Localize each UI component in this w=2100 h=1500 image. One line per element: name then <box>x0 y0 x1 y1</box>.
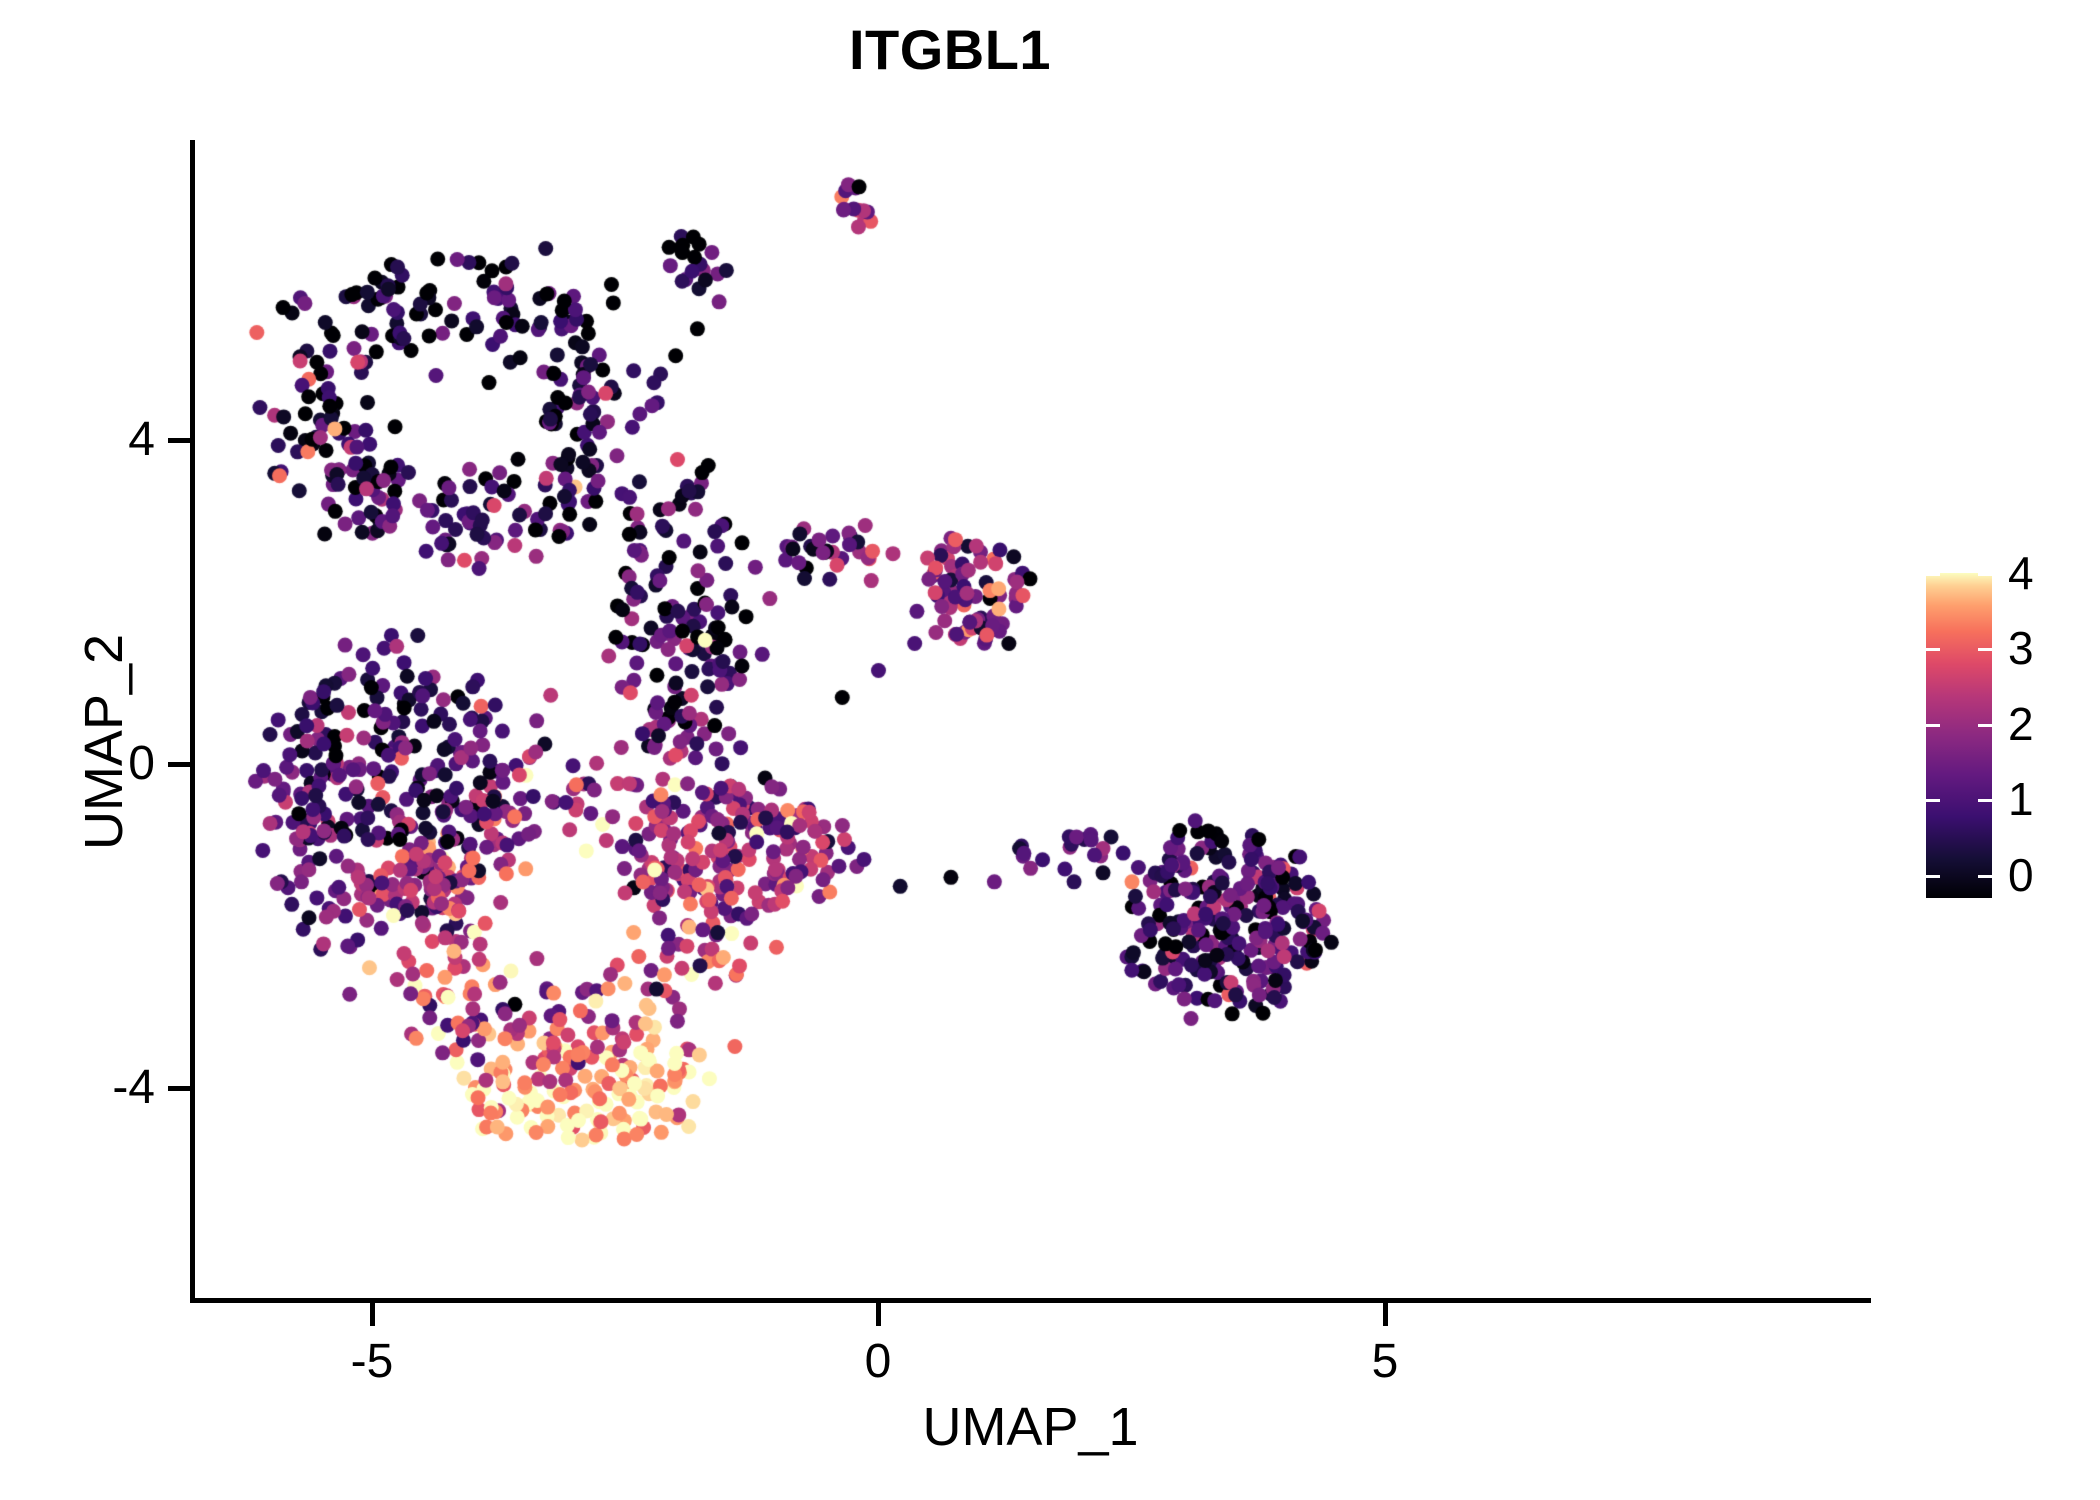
y-tick-mark-0 <box>168 762 192 767</box>
y-tick-mark-4 <box>168 438 192 443</box>
colorbar-tick-right-3 <box>1978 648 1992 651</box>
y-tick-mark-neg4 <box>168 1086 192 1091</box>
colorbar-tick-left-3 <box>1926 648 1940 651</box>
colorbar-gradient <box>1926 573 1992 898</box>
colorbar-tick-left-0 <box>1926 875 1940 878</box>
colorbar-label-0: 0 <box>2008 852 2034 898</box>
colorbar-label-3: 3 <box>2008 625 2034 671</box>
x-axis-line <box>190 1298 1871 1303</box>
colorbar-legend: 4 3 2 1 0 <box>1900 560 2090 920</box>
scatter-plot-panel <box>194 140 1400 1300</box>
x-tick-label-neg5: -5 <box>351 1338 394 1386</box>
colorbar-label-1: 1 <box>2008 776 2034 822</box>
scatter-points-layer <box>194 140 1400 1300</box>
colorbar-label-2: 2 <box>2008 701 2034 747</box>
page-title: ITGBL1 <box>0 22 1900 78</box>
colorbar-tick-left-2 <box>1926 724 1940 727</box>
colorbar-tick-left-4 <box>1926 573 1940 576</box>
x-tick-label-0: 0 <box>865 1338 892 1386</box>
colorbar-label-4: 4 <box>2008 550 2034 596</box>
figure-root: ITGBL1 4 0 -4 -5 0 5 UMAP_1 UMAP_2 4 3 2… <box>0 0 2100 1500</box>
y-axis-label: UMAP_2 <box>77 332 131 1152</box>
x-tick-mark-neg5 <box>370 1302 375 1326</box>
x-tick-mark-0 <box>876 1302 881 1326</box>
y-tick-label-4: 4 <box>128 416 155 464</box>
y-axis-line <box>190 140 195 1303</box>
x-tick-label-5: 5 <box>1372 1338 1399 1386</box>
colorbar-tick-right-0 <box>1978 875 1992 878</box>
colorbar-tick-left-1 <box>1926 799 1940 802</box>
colorbar-tick-right-4 <box>1978 573 1992 576</box>
x-tick-mark-5 <box>1383 1302 1388 1326</box>
colorbar-tick-right-1 <box>1978 799 1992 802</box>
colorbar-tick-right-2 <box>1978 724 1992 727</box>
x-axis-label: UMAP_1 <box>190 1400 1871 1454</box>
